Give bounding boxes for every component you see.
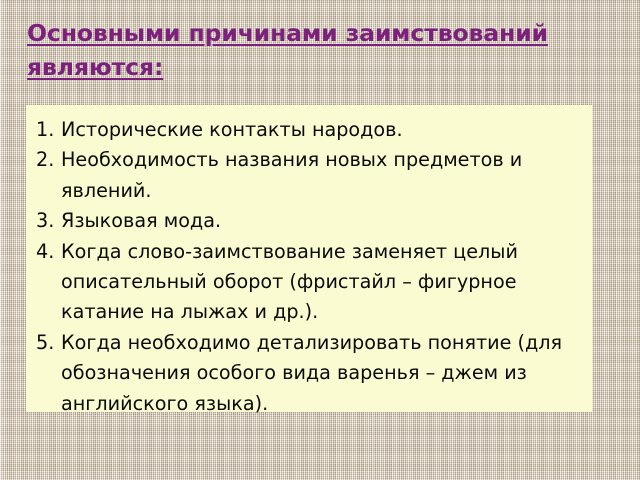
list-item: 4. Когда слово-заимствование заменяет це…: [36, 237, 580, 328]
list-item-text: Когда слово-заимствование заменяет целый…: [61, 237, 580, 328]
list-item: 5. Когда необходимо детализировать понят…: [36, 328, 580, 419]
reasons-list: 1. Исторические контакты народов. 2. Нео…: [26, 105, 592, 419]
list-item-number: 3.: [36, 206, 61, 236]
list-item-text: Исторические контакты народов.: [61, 115, 580, 145]
list-item-number: 4.: [36, 237, 61, 267]
list-item: 2. Необходимость названия новых предмето…: [36, 145, 580, 206]
content-panel: 1. Исторические контакты народов. 2. Нео…: [26, 105, 592, 412]
presentation-slide: Основными причинами заимствований являют…: [0, 0, 640, 480]
list-item-number: 1.: [36, 115, 61, 145]
list-item: 3. Языковая мода.: [36, 206, 580, 236]
list-item-text: Когда необходимо детализировать понятие …: [61, 328, 580, 419]
title-line-1: Основными причинами заимствований: [27, 16, 607, 50]
list-item: 1. Исторические контакты народов.: [36, 115, 580, 145]
list-item-text: Необходимость названия новых предметов и…: [61, 145, 580, 206]
list-item-number: 2.: [36, 145, 61, 175]
title-line-2-text: являются:: [27, 53, 163, 81]
list-item-text: Языковая мода.: [61, 206, 580, 236]
list-item-number: 5.: [36, 328, 61, 358]
title-line-1-text: Основными причинами заимствований: [27, 19, 548, 47]
title-line-2: являются:: [27, 50, 607, 84]
slide-title: Основными причинами заимствований являют…: [27, 16, 607, 84]
